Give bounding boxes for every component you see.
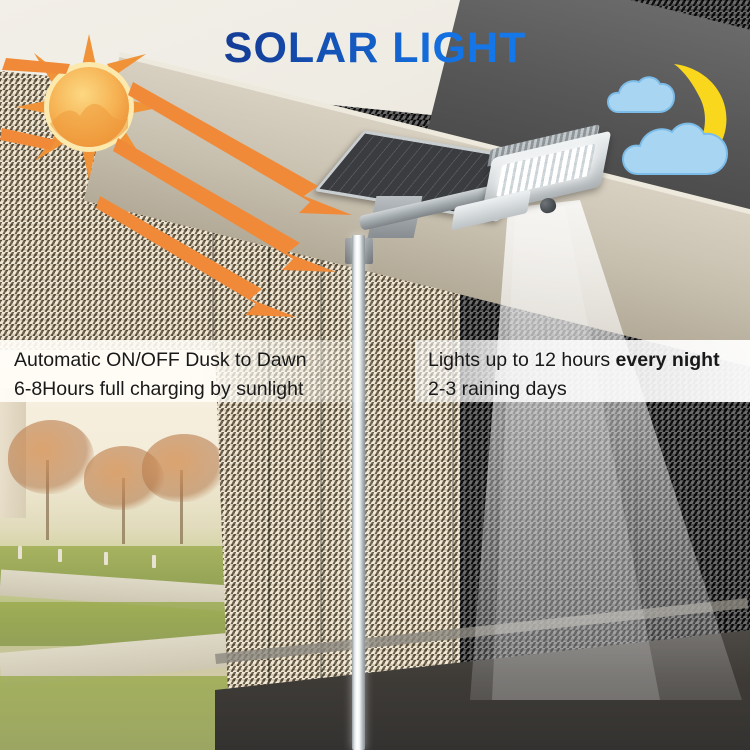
left-feature-text: Automatic ON/OFF Dusk to Dawn 6-8Hours f… (14, 346, 307, 404)
solar-light-product-poster: SOLAR LIGHT Automatic ON/OFF Dusk to Daw… (0, 0, 750, 750)
path-bollard (152, 555, 156, 568)
facade-seam (320, 190, 322, 750)
path-bollard (58, 549, 62, 562)
feature-line-charging-time: 6-8Hours full charging by sunlight (14, 375, 307, 404)
facade-seam (268, 180, 270, 750)
tree-canopy (142, 434, 226, 502)
grass-strip (0, 676, 245, 750)
path-bollard (18, 546, 22, 559)
moon-cloud-group (596, 62, 746, 182)
tree-canopy (8, 420, 94, 494)
feature-line-dusk-to-dawn: Automatic ON/OFF Dusk to Dawn (14, 346, 307, 375)
page-title: SOLAR LIGHT (0, 24, 750, 73)
runtime-text: Lights up to 12 hours (428, 349, 616, 371)
light-pole (352, 235, 365, 750)
runtime-emphasis: every night (616, 349, 720, 371)
cloud-icon (608, 77, 674, 112)
right-feature-text: Lights up to 12 hours every night 2-3 ra… (428, 346, 720, 404)
feature-line-runtime: Lights up to 12 hours every night (428, 346, 720, 375)
feature-line-raining-days: 2-3 raining days (428, 375, 720, 404)
path-bollard (104, 552, 108, 565)
